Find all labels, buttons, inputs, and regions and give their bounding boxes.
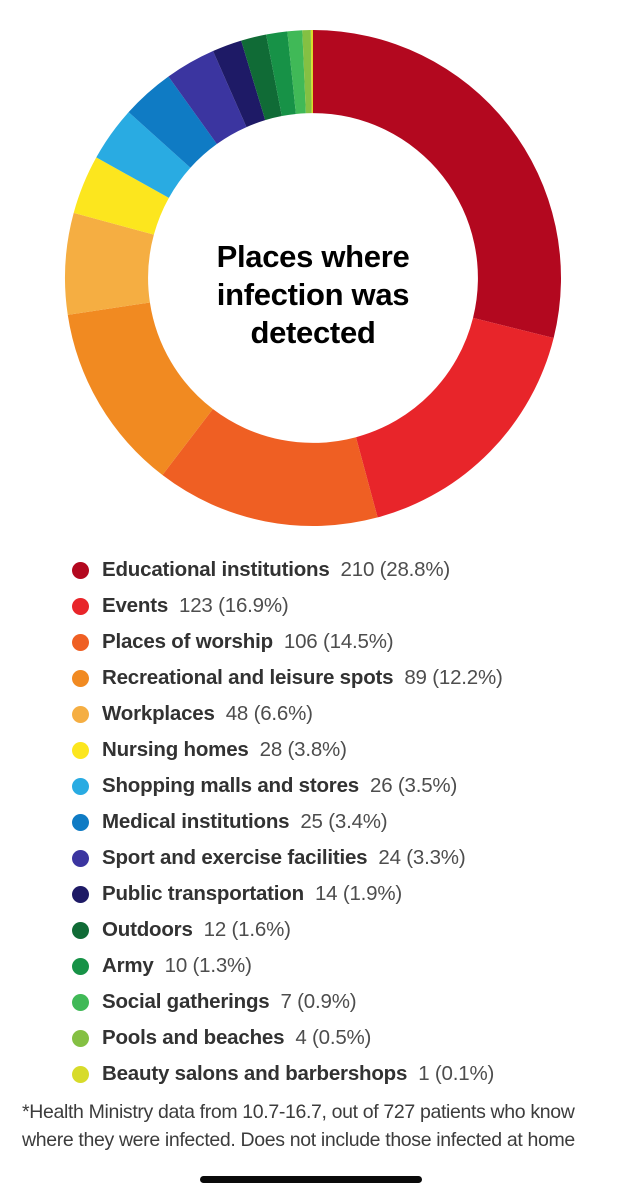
legend-item-label: Outdoors [102, 918, 193, 942]
legend-item: Shopping malls and stores26 (3.5%) [72, 768, 612, 804]
legend-item-value: 48 (6.6%) [226, 702, 313, 726]
legend-item-value: 10 (1.3%) [165, 954, 252, 978]
legend-color-dot [72, 886, 89, 903]
legend-item: Social gatherings7 (0.9%) [72, 984, 612, 1020]
legend-item-value: 4 (0.5%) [295, 1026, 371, 1050]
legend-item: Army10 (1.3%) [72, 948, 612, 984]
infographic-page: Places whereinfection wasdetected Educat… [0, 0, 621, 1200]
legend-item: Educational institutions210 (28.8%) [72, 552, 612, 588]
legend-color-dot [72, 670, 89, 687]
footnote-text: *Health Ministry data from 10.7-16.7, ou… [22, 1098, 607, 1155]
legend-item-value: 123 (16.9%) [179, 594, 288, 618]
legend-color-dot [72, 814, 89, 831]
legend-item: Places of worship106 (14.5%) [72, 624, 612, 660]
legend-item: Workplaces48 (6.6%) [72, 696, 612, 732]
legend-color-dot [72, 778, 89, 795]
legend-item-label: Nursing homes [102, 738, 249, 762]
legend-item-value: 106 (14.5%) [284, 630, 393, 654]
legend-item-value: 12 (1.6%) [204, 918, 291, 942]
legend-item-label: Recreational and leisure spots [102, 666, 393, 690]
legend-color-dot [72, 922, 89, 939]
chart-center-title: Places whereinfection wasdetected [163, 238, 463, 351]
legend-item: Pools and beaches4 (0.5%) [72, 1020, 612, 1056]
legend-item: Recreational and leisure spots89 (12.2%) [72, 660, 612, 696]
legend-color-dot [72, 1030, 89, 1047]
legend-item: Nursing homes28 (3.8%) [72, 732, 612, 768]
legend-item-label: Public transportation [102, 882, 304, 906]
legend-item-value: 28 (3.8%) [260, 738, 347, 762]
legend-color-dot [72, 958, 89, 975]
legend-item-label: Shopping malls and stores [102, 774, 359, 798]
chart-center-title-line: infection was [163, 276, 463, 314]
legend-item-value: 25 (3.4%) [300, 810, 387, 834]
legend-item-label: Pools and beaches [102, 1026, 284, 1050]
legend-item: Sport and exercise facilities24 (3.3%) [72, 840, 612, 876]
legend-item: Public transportation14 (1.9%) [72, 876, 612, 912]
legend-item-label: Army [102, 954, 154, 978]
legend-color-dot [72, 850, 89, 867]
legend-item: Events123 (16.9%) [72, 588, 612, 624]
legend-item-label: Medical institutions [102, 810, 289, 834]
legend-color-dot [72, 1066, 89, 1083]
legend-item-value: 210 (28.8%) [341, 558, 450, 582]
legend-item-value: 14 (1.9%) [315, 882, 402, 906]
legend-color-dot [72, 742, 89, 759]
legend-color-dot [72, 994, 89, 1011]
donut-chart: Places whereinfection wasdetected [0, 0, 621, 530]
legend-item-value: 24 (3.3%) [378, 846, 465, 870]
legend-item-label: Educational institutions [102, 558, 330, 582]
legend-item: Beauty salons and barbershops1 (0.1%) [72, 1056, 612, 1092]
legend-item-label: Events [102, 594, 168, 618]
legend-color-dot [72, 634, 89, 651]
home-indicator-bar [200, 1176, 422, 1183]
legend-color-dot [72, 598, 89, 615]
legend-item-value: 26 (3.5%) [370, 774, 457, 798]
legend-color-dot [72, 562, 89, 579]
chart-legend: Educational institutions210 (28.8%)Event… [72, 552, 612, 1092]
legend-item-value: 7 (0.9%) [280, 990, 356, 1014]
legend-item-value: 1 (0.1%) [418, 1062, 494, 1086]
legend-item-label: Workplaces [102, 702, 215, 726]
chart-center-title-line: detected [163, 314, 463, 352]
legend-item-value: 89 (12.2%) [404, 666, 502, 690]
legend-item-label: Beauty salons and barbershops [102, 1062, 407, 1086]
legend-item-label: Places of worship [102, 630, 273, 654]
legend-item: Outdoors12 (1.6%) [72, 912, 612, 948]
chart-center-title-line: Places where [163, 238, 463, 276]
legend-item-label: Sport and exercise facilities [102, 846, 367, 870]
legend-item-label: Social gatherings [102, 990, 269, 1014]
legend-color-dot [72, 706, 89, 723]
legend-item: Medical institutions25 (3.4%) [72, 804, 612, 840]
